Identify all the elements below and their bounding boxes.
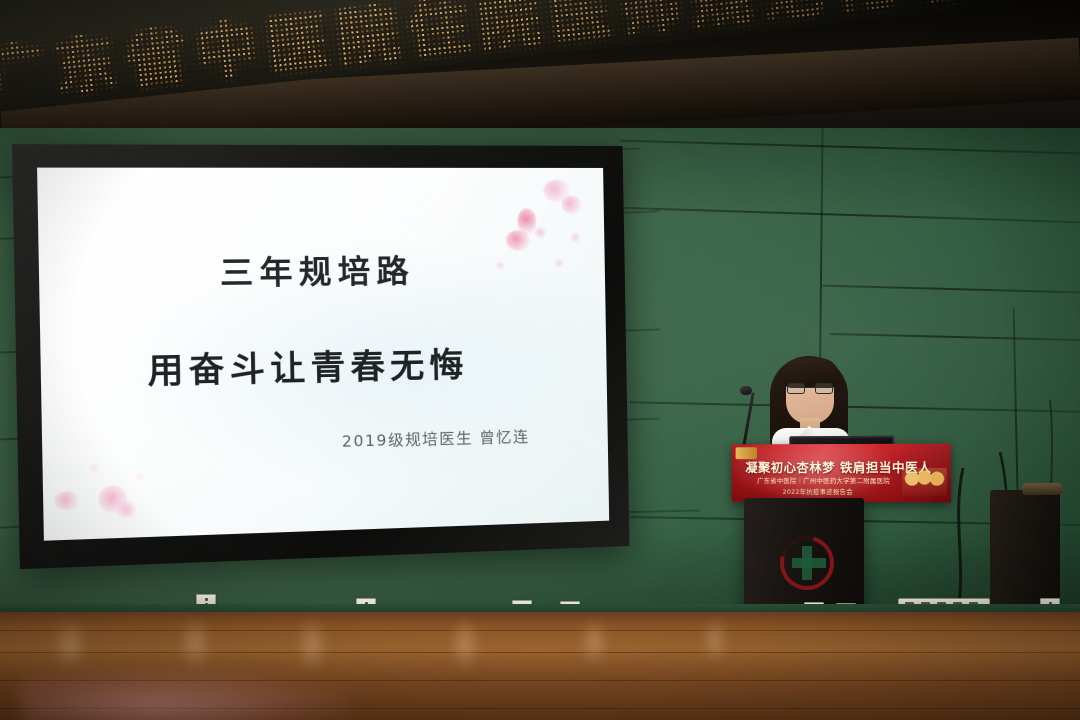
floor-light-reflection (178, 616, 212, 672)
floor-light-reflection (580, 616, 608, 668)
floor-light-reflection (52, 618, 88, 672)
floor-light-reflection (702, 616, 728, 664)
conference-photo-scene: 广东省中医院住院医师规范化培训 (0, 0, 1080, 720)
floor-light-reflection (296, 616, 328, 674)
stage-side-object-top (1022, 483, 1062, 495)
floor-pink-spotlight (20, 670, 350, 720)
floor-plank-line (0, 630, 1080, 631)
floor-light-reflection (450, 616, 480, 672)
stage-floor (0, 612, 1080, 720)
floor-plank-line (0, 652, 1080, 653)
